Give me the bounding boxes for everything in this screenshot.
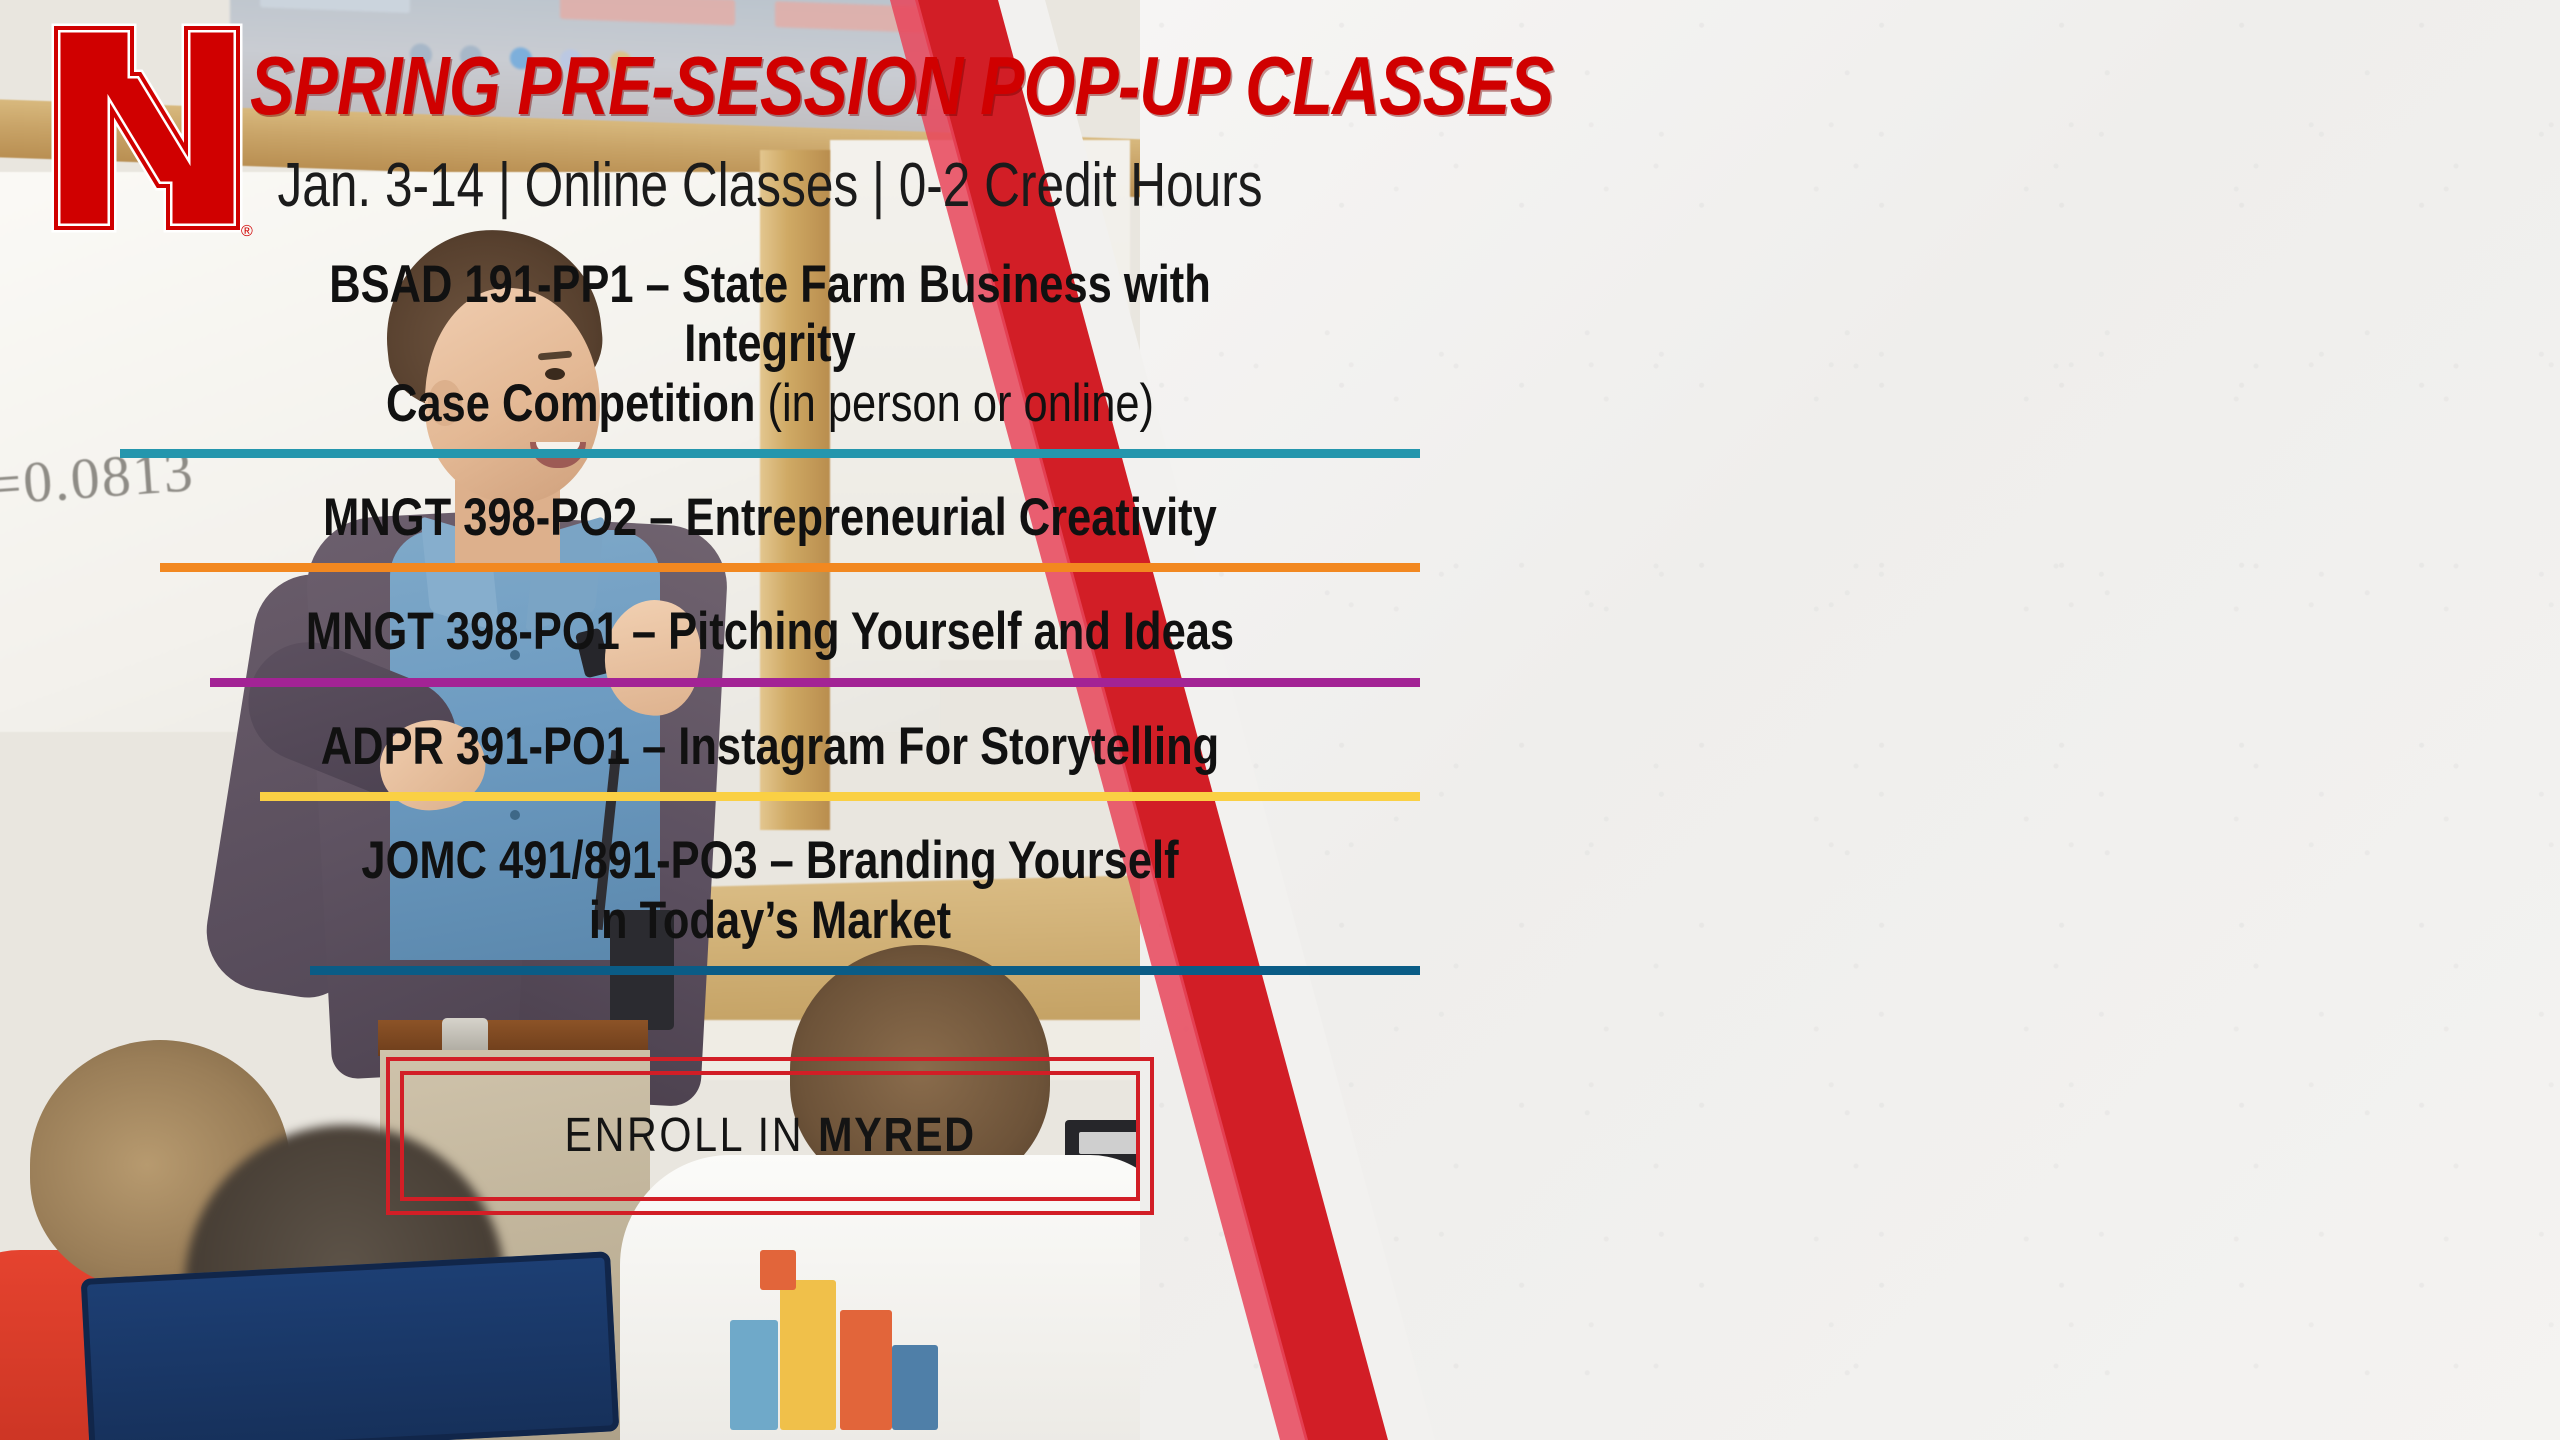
course-line-1: MNGT 398-PO2 – Entrepreneurial Creativit… <box>323 488 1217 547</box>
course-item[interactable]: JOMC 491/891-PO3 – Branding Yourself in … <box>120 831 1420 975</box>
course-divider <box>120 449 1420 458</box>
page-title: SPRING PRE-SESSION POP-UP CLASSES <box>250 38 1290 134</box>
course-line-2: in Today’s Market <box>589 891 951 950</box>
course-title: MNGT 398-PO1 – Pitching Yourself and Ide… <box>237 602 1303 661</box>
cta-area: ENROLL IN MYRED <box>120 1057 1420 1215</box>
page-subtitle: Jan. 3-14 | Online Classes | 0-2 Credit … <box>250 150 1290 221</box>
course-item[interactable]: MNGT 398-PO2 – Entrepreneurial Creativit… <box>120 488 1420 572</box>
course-line-2: Case Competition <box>386 374 768 433</box>
myred-emphasis: MYRED <box>818 1109 976 1162</box>
panel-content: SPRING PRE-SESSION POP-UP CLASSES Jan. 3… <box>120 0 1420 1440</box>
promotional-poster: =0.0813 <box>0 0 2560 1440</box>
course-title: JOMC 491/891-PO3 – Branding Yourself in … <box>237 831 1303 950</box>
enroll-button[interactable]: ENROLL IN MYRED <box>386 1057 1154 1215</box>
course-title: BSAD 191-PP1 – State Farm Business with … <box>237 255 1303 433</box>
course-title: MNGT 398-PO2 – Entrepreneurial Creativit… <box>237 488 1303 547</box>
course-item[interactable]: BSAD 191-PP1 – State Farm Business with … <box>120 255 1420 458</box>
course-item[interactable]: MNGT 398-PO1 – Pitching Yourself and Ide… <box>120 602 1420 686</box>
course-line-1: ADPR 391-PO1 – Instagram For Storytellin… <box>321 717 1219 776</box>
course-note: (in person or online) <box>768 374 1155 433</box>
course-line-1: BSAD 191-PP1 – State Farm Business with … <box>329 255 1211 373</box>
course-divider <box>210 678 1420 687</box>
course-item[interactable]: ADPR 391-PO1 – Instagram For Storytellin… <box>120 717 1420 801</box>
enroll-prefix: ENROLL IN <box>564 1109 818 1162</box>
enroll-button-label: ENROLL IN MYRED <box>564 1108 975 1163</box>
course-line-1: MNGT 398-PO1 – Pitching Yourself and Ide… <box>306 602 1234 661</box>
course-list: BSAD 191-PP1 – State Farm Business with … <box>120 255 1420 1005</box>
course-divider <box>310 966 1420 975</box>
course-divider <box>260 792 1420 801</box>
course-title: ADPR 391-PO1 – Instagram For Storytellin… <box>237 717 1303 776</box>
course-line-1: JOMC 491/891-PO3 – Branding Yourself <box>361 831 1178 890</box>
course-divider <box>160 563 1420 572</box>
